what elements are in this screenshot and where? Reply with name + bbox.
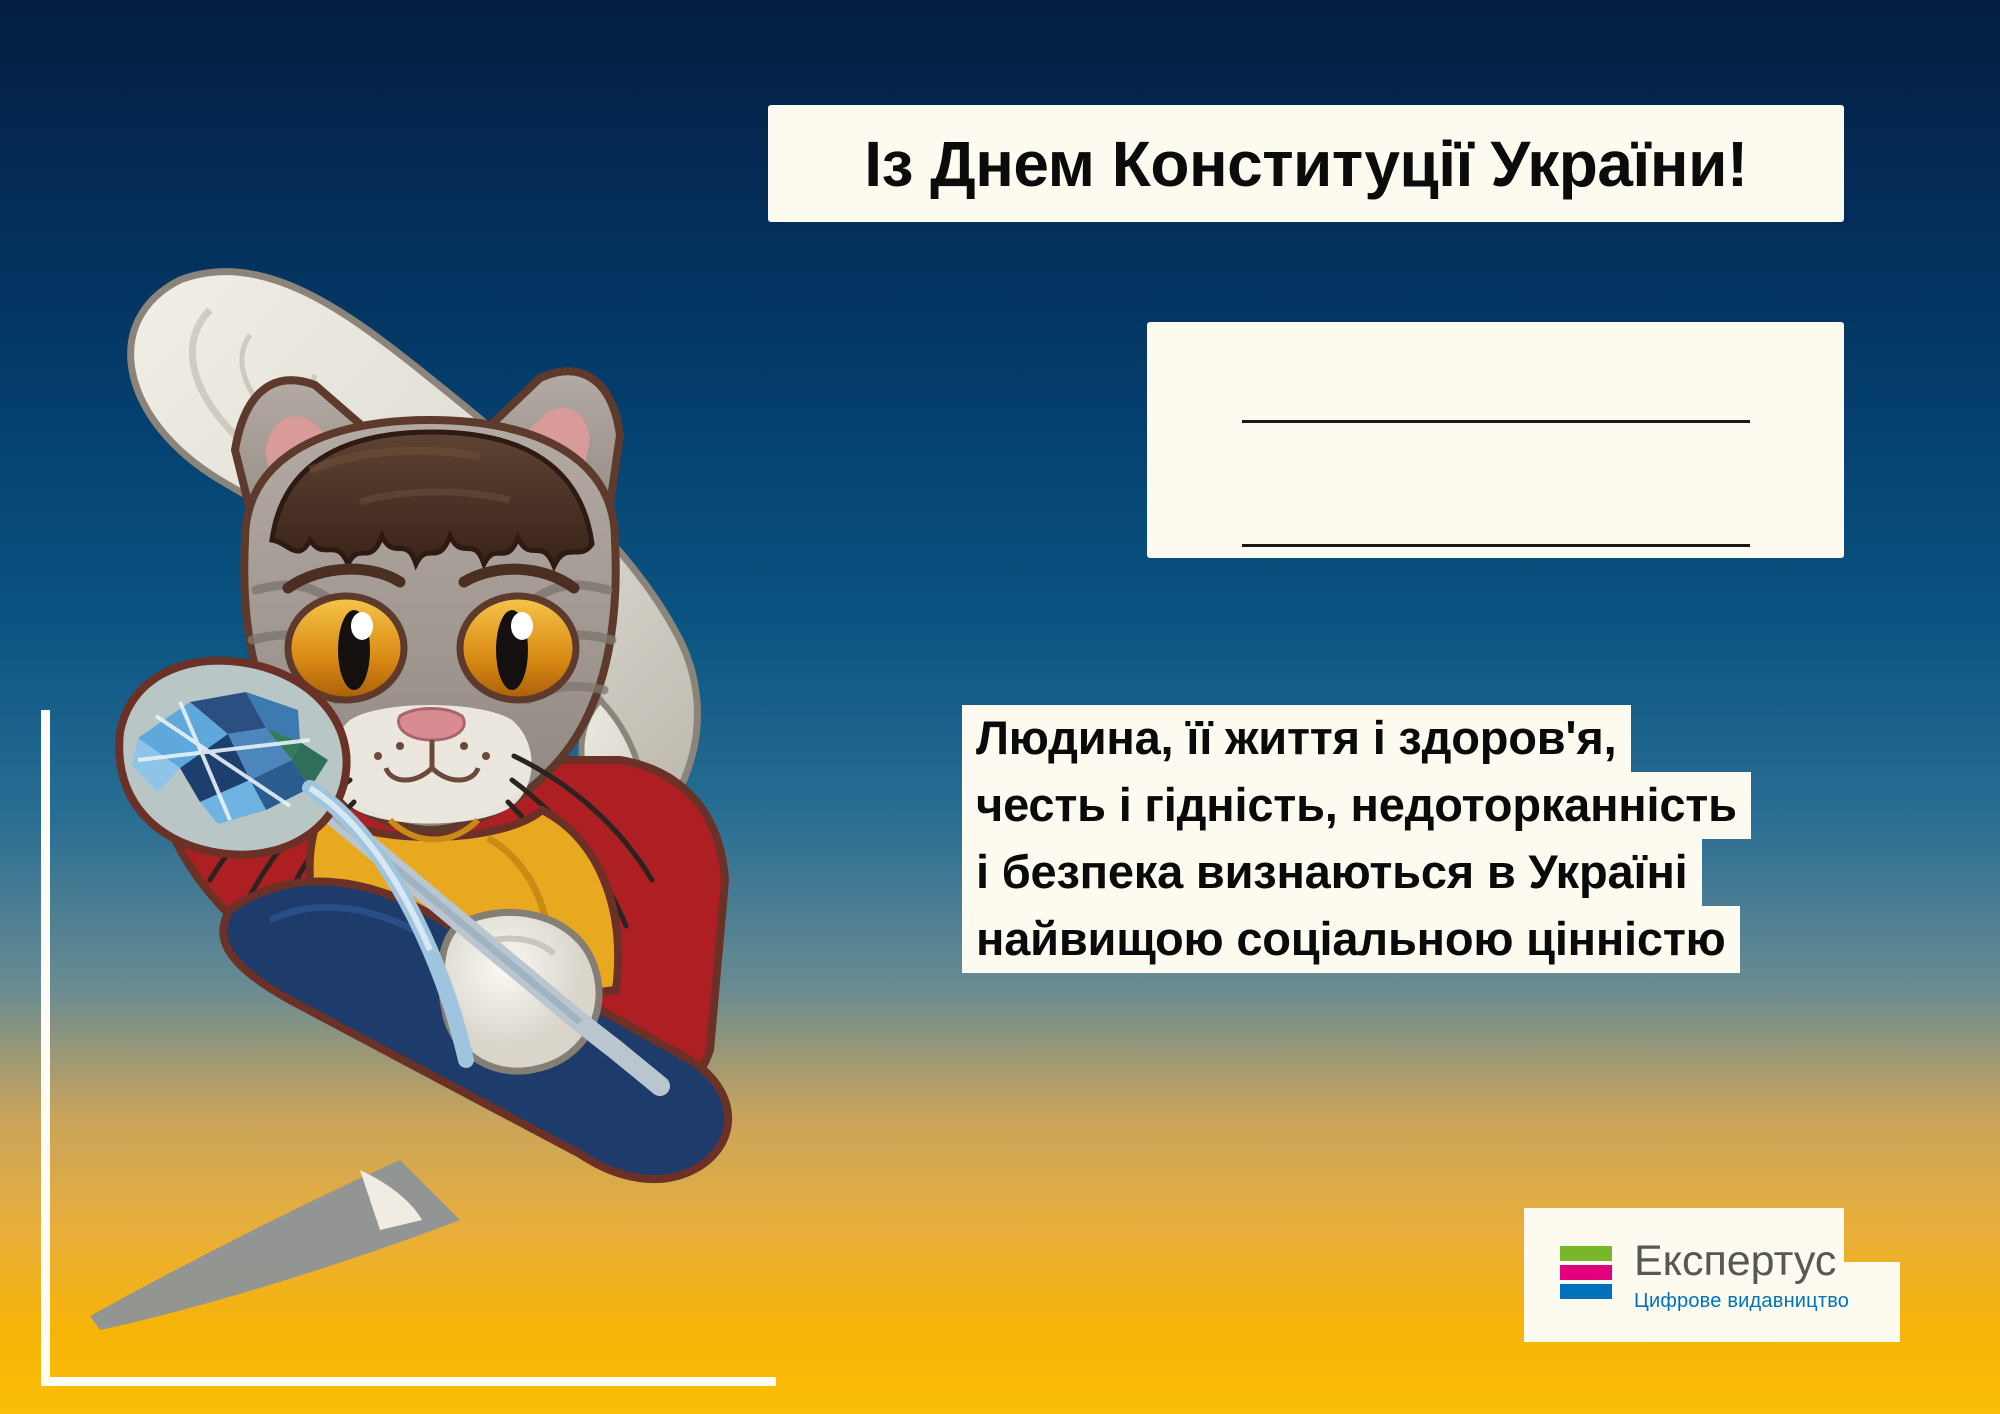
expertus-bars-icon xyxy=(1560,1246,1612,1299)
bracket-vertical-line xyxy=(41,710,50,1386)
quote-line: і безпека визнаються в Україні xyxy=(962,839,1702,906)
cat-tail xyxy=(90,1160,460,1330)
logo-bar-green xyxy=(1560,1246,1612,1261)
note-rule-line-2[interactable] xyxy=(1242,544,1750,547)
poster-canvas: Із Днем Конституції України! Людина, її … xyxy=(0,0,2000,1414)
page-title: Із Днем Конституції України! xyxy=(864,127,1747,201)
blank-note-card[interactable] xyxy=(1147,322,1844,558)
quote-line: честь і гідність, недоторканність xyxy=(962,772,1751,839)
logo-tagline: Цифрове видавництво xyxy=(1634,1291,1849,1311)
logo-name: Експертус xyxy=(1634,1240,1849,1283)
constitution-quote-block: Людина, її життя і здоров'я, честь і гід… xyxy=(962,705,1902,973)
poster-title-card: Із Днем Конституції України! xyxy=(768,105,1844,222)
logo-wordmark: Експертус Цифрове видавництво xyxy=(1634,1240,1849,1311)
quote-line: Людина, її життя і здоров'я, xyxy=(962,705,1631,772)
note-rule-line-1[interactable] xyxy=(1242,420,1750,423)
quote-line: найвищою соціальною цінністю xyxy=(962,906,1740,973)
logo-bar-magenta xyxy=(1560,1265,1612,1280)
bracket-horizontal-line xyxy=(41,1377,776,1386)
cossack-cat-illustration xyxy=(60,120,840,1350)
logo-bar-blue xyxy=(1560,1284,1612,1299)
expertus-logo[interactable]: Експертус Цифрове видавництво xyxy=(1524,1208,1900,1342)
